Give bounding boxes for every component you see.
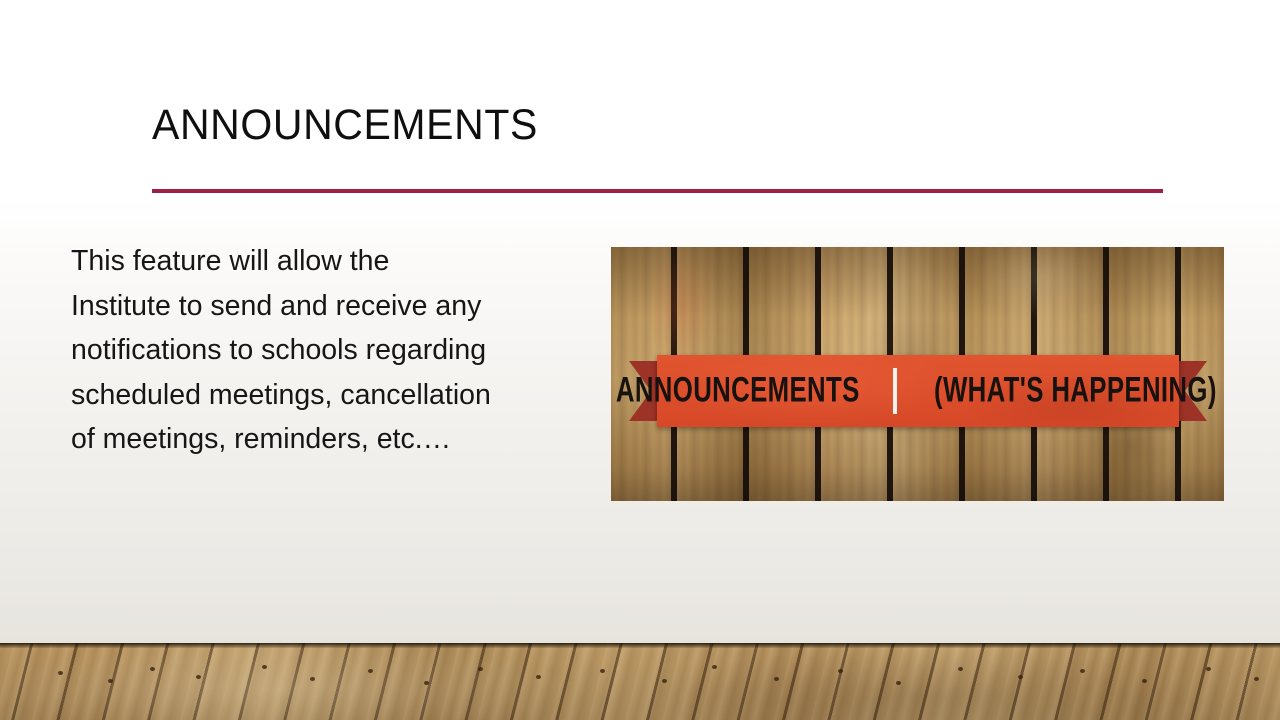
floor-lighting-overlay: [0, 643, 1280, 720]
floor-knot-icon: [108, 679, 113, 683]
ribbon-main-text: ANNOUNCEMENTS: [616, 373, 860, 408]
floor-knot-icon: [424, 681, 429, 685]
body-paragraph: This feature will allow the Institute to…: [71, 239, 575, 462]
floor-knot-icon: [712, 665, 717, 669]
ribbon-band: ANNOUNCEMENTS (WHAT'S HAPPENING): [657, 355, 1179, 427]
floor-knot-icon: [478, 667, 483, 671]
floor-knot-icon: [368, 669, 373, 673]
body-line: notifications to schools regarding: [71, 328, 575, 373]
title-underline-rule: [152, 189, 1163, 193]
floor-knot-icon: [536, 675, 541, 679]
floor-knot-icon: [58, 671, 63, 675]
announcement-ribbon: ANNOUNCEMENTS (WHAT'S HAPPENING): [629, 355, 1207, 427]
floor-knot-icon: [896, 681, 901, 685]
page-title: ANNOUNCEMENTS: [152, 99, 1167, 150]
body-line: This feature will allow the: [71, 239, 575, 284]
wood-floor-strip: [0, 643, 1280, 720]
floor-knot-icon: [662, 679, 667, 683]
floor-knot-icon: [310, 677, 315, 681]
body-line: Institute to send and receive any: [71, 284, 575, 329]
announcements-image: ANNOUNCEMENTS (WHAT'S HAPPENING): [611, 247, 1224, 501]
floor-knot-icon: [838, 669, 843, 673]
body-line: of meetings, reminders, etc.…: [71, 417, 575, 462]
floor-knot-icon: [774, 677, 779, 681]
body-line: scheduled meetings, cancellation: [71, 373, 575, 418]
ribbon-subtitle-text: (WHAT'S HAPPENING): [934, 373, 1217, 408]
floor-knot-icon: [1142, 679, 1147, 683]
floor-knot-icon: [958, 667, 963, 671]
floor-knot-icon: [1254, 677, 1259, 681]
floor-knot-icon: [262, 665, 267, 669]
slide: ANNOUNCEMENTS This feature will allow th…: [0, 0, 1280, 720]
floor-knot-icon: [150, 667, 155, 671]
floor-knot-icon: [1206, 667, 1211, 671]
floor-knot-icon: [600, 669, 605, 673]
ribbon-divider-icon: [893, 368, 897, 414]
floor-knot-icon: [1080, 669, 1085, 673]
floor-knot-icon: [1018, 675, 1023, 679]
floor-knot-icon: [196, 675, 201, 679]
